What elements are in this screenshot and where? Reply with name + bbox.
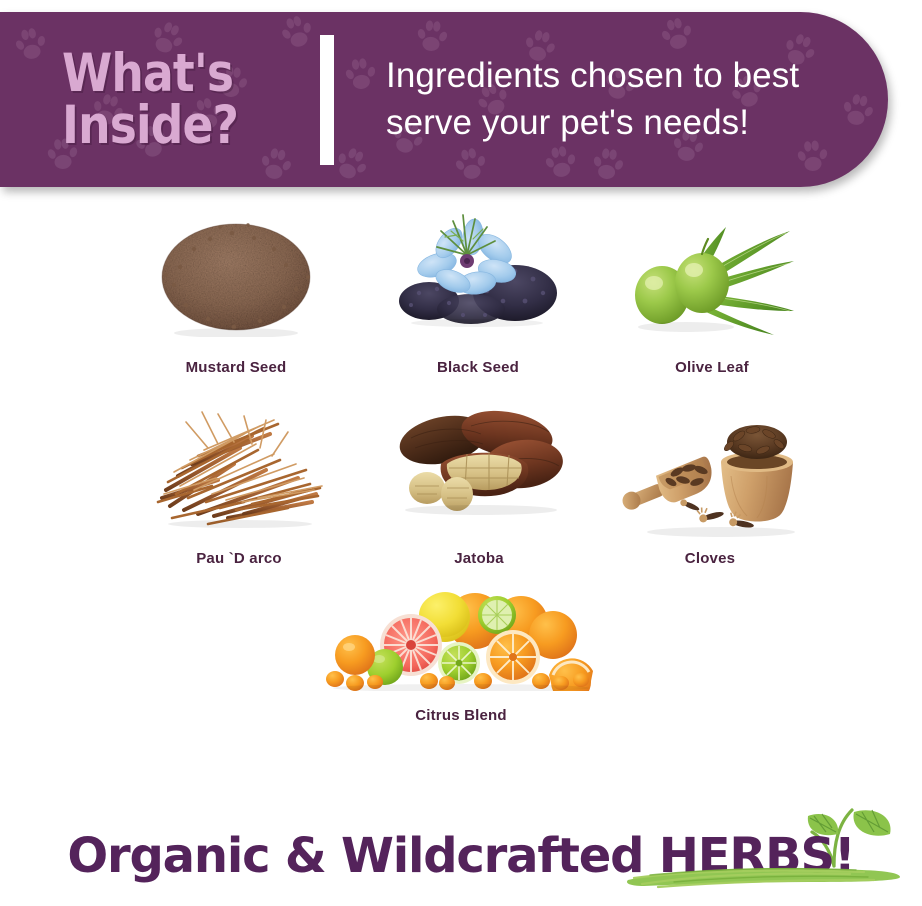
ingredient-label: Mustard Seed — [186, 359, 287, 376]
banner-divider — [320, 35, 334, 165]
shredded-bark-image — [148, 398, 330, 528]
ingredient-label: Cloves — [685, 550, 735, 567]
ingredient-row-2: Pau `D arco — [0, 394, 922, 567]
ingredient-card-olive-leaf: Olive Leaf — [594, 221, 830, 376]
green-grass-stroke-icon — [624, 860, 904, 890]
ingredient-label: Jatoba — [454, 550, 504, 567]
ingredient-grid: Mustard Seed — [0, 205, 922, 724]
ingredient-card-pau-d-arco: Pau `D arco — [114, 398, 364, 567]
ingredient-card-mustard-seed: Mustard Seed — [110, 209, 362, 376]
citrus-fruit-pile-image — [325, 583, 597, 691]
ingredient-row-1: Mustard Seed — [0, 205, 922, 376]
cloves-wooden-bowl-scoop-image — [621, 406, 799, 538]
ingredient-row-3: Citrus Blend — [0, 583, 922, 724]
header-banner: What's Inside? Ingredients chosen to bes… — [0, 12, 888, 187]
ingredient-label: Pau `D arco — [196, 550, 282, 567]
footer: Organic & Wildcrafted HERBS! — [0, 806, 922, 898]
nigella-flower-black-seed-image — [397, 205, 559, 329]
ingredient-card-black-seed: Black Seed — [362, 205, 594, 376]
ingredient-card-citrus-blend: Citrus Blend — [311, 583, 611, 724]
mustard-seed-pile-image — [150, 209, 322, 337]
ingredient-label: Olive Leaf — [675, 359, 749, 376]
ingredient-label: Citrus Blend — [415, 707, 507, 724]
banner-subheadline: Ingredients chosen to best serve your pe… — [386, 53, 799, 145]
banner-headline: What's Inside? — [62, 48, 279, 152]
green-olives-leaves-image — [628, 221, 796, 343]
jatoba-pods-image — [391, 394, 567, 520]
ingredient-label: Black Seed — [437, 359, 519, 376]
ingredient-card-jatoba: Jatoba — [364, 394, 594, 567]
ingredient-card-cloves: Cloves — [594, 406, 826, 567]
